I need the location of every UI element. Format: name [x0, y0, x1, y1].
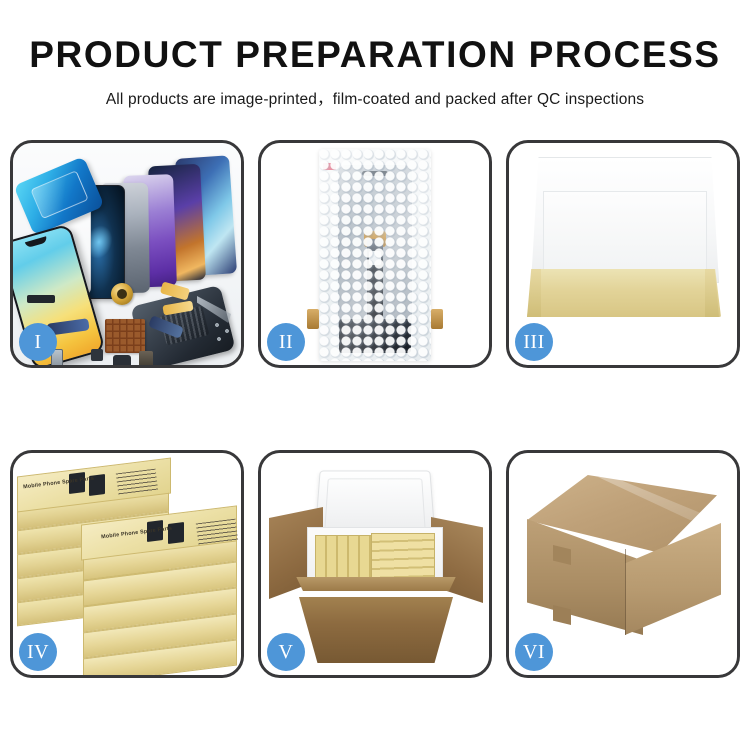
screws-part: [213, 321, 235, 347]
vibrator-part: [139, 351, 153, 365]
page-header: PRODUCT PREPARATION PROCESS All products…: [0, 0, 750, 109]
carton-front-panel: [299, 597, 453, 663]
process-step-panel-3: III: [506, 140, 740, 368]
process-steps-grid: I II III: [10, 140, 740, 678]
page-title: PRODUCT PREPARATION PROCESS: [0, 36, 750, 75]
small-connector-part: [91, 349, 103, 361]
adhesive-tab-left: [307, 309, 319, 329]
process-step-panel-5: V: [258, 450, 492, 678]
camera-module-part: [111, 283, 133, 305]
step-badge-2: II: [267, 323, 305, 361]
process-step-panel-2: II: [258, 140, 492, 368]
speaker-part: [113, 355, 131, 365]
yellow-boxes-row-2: [371, 533, 435, 583]
step-badge-6: VI: [515, 633, 553, 671]
process-step-panel-1: I: [10, 140, 244, 368]
carton-rim: [293, 577, 459, 591]
page-subtitle: All products are image-printed，film-coat…: [0, 87, 750, 109]
step-badge-3: III: [515, 323, 553, 361]
kraft-box-tray: [527, 269, 721, 317]
plastic-sheen-overlay: [319, 149, 431, 361]
earpiece-mesh-part: [27, 295, 55, 303]
step-badge-4: IV: [19, 633, 57, 671]
step-badge-5: V: [267, 633, 305, 671]
process-step-panel-4: Mobile Phone Spare Parts Mobile Phone Sp…: [10, 450, 244, 678]
foam-liner: [543, 191, 707, 277]
step-badge-1: I: [19, 323, 57, 361]
process-step-panel-6: VI: [506, 450, 740, 678]
carton-vertical-edge: [625, 549, 626, 635]
chip-grid-part: [105, 319, 145, 353]
adhesive-tab-right: [431, 309, 443, 329]
